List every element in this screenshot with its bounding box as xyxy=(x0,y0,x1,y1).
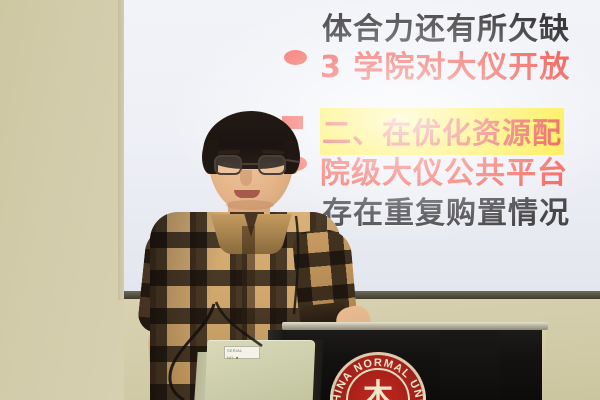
podium-top-rail xyxy=(282,322,548,330)
sticker-line-2: NO. ■ xyxy=(225,354,259,361)
speaker-chin-shadow xyxy=(226,200,274,210)
sticker-line-1: SERIAL xyxy=(225,347,259,354)
glasses-lens-right-icon xyxy=(258,155,286,175)
glasses-bridge xyxy=(242,163,258,165)
laptop-lid xyxy=(205,340,316,400)
laptop-asset-sticker: SERIAL NO. ■ xyxy=(224,346,260,359)
speaker-mouth xyxy=(234,190,260,198)
speaker-hair-side-right xyxy=(284,140,300,174)
university-seal-glyph: 木 xyxy=(346,372,410,400)
podium-right-panel xyxy=(440,330,500,400)
speaker-nose xyxy=(240,170,252,186)
glasses-lens-left-icon xyxy=(214,155,242,175)
presentation-photo: 体合力还有所欠缺 3 学院对大仪开放 二、在优化资源配 院级大仪公共平台 存在重… xyxy=(0,0,600,400)
